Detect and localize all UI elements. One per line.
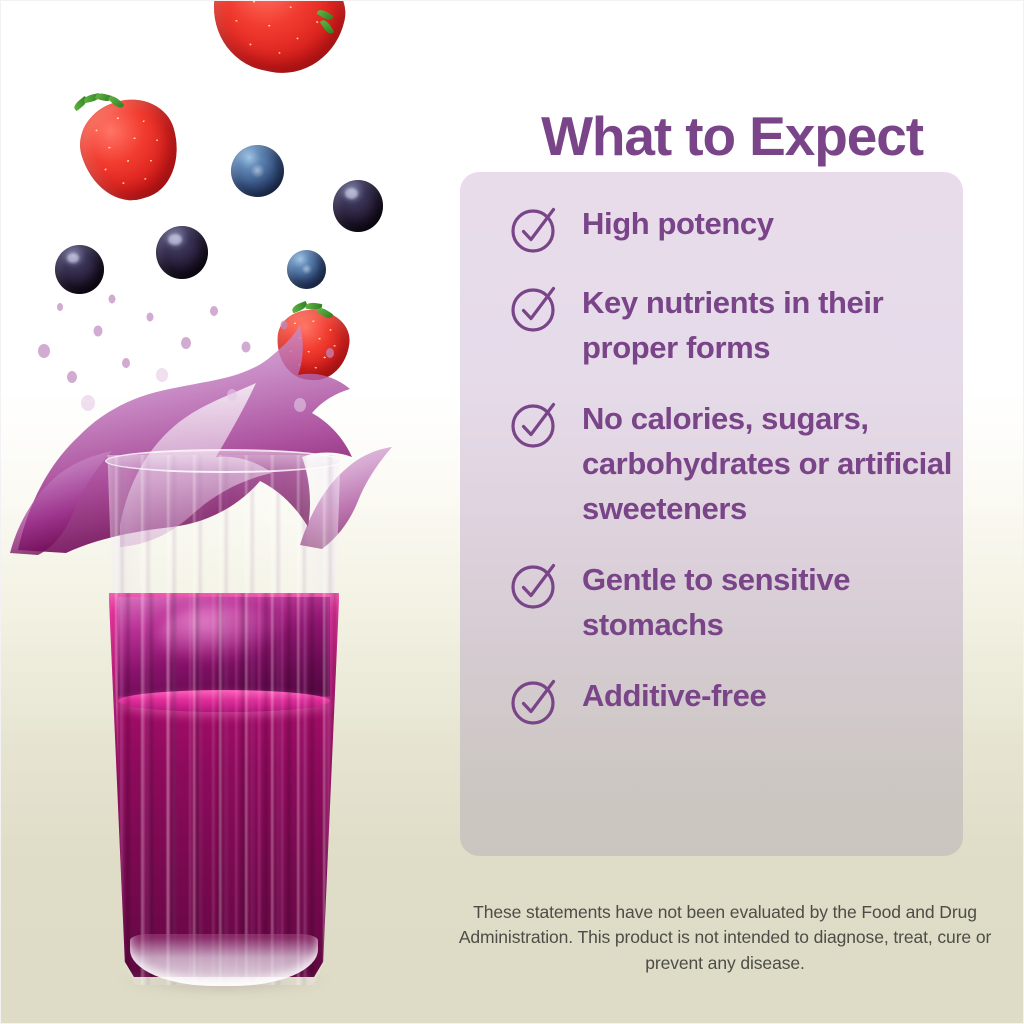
glass-rim	[105, 449, 343, 473]
drink-glass	[100, 455, 348, 985]
benefit-item-gentle-stomach: Gentle to sensitive stomachs	[508, 558, 1000, 648]
glass-flute-facets	[100, 455, 348, 985]
benefit-label: Additive-free	[582, 674, 766, 719]
benefit-label: High potency	[582, 202, 774, 247]
strawberry-top-icon	[202, 0, 354, 84]
fda-disclaimer: These statements have not been evaluated…	[448, 900, 1002, 976]
content-column: What to Expect High potency Key nutrient…	[440, 0, 1024, 1024]
check-circle-icon	[508, 284, 564, 334]
benefit-label: No calories, sugars, carbohydrates or ar…	[582, 397, 982, 532]
benefit-item-no-calories: No calories, sugars, carbohydrates or ar…	[508, 397, 1000, 532]
product-benefits-page: What to Expect High potency Key nutrient…	[0, 0, 1024, 1024]
check-circle-icon	[508, 561, 564, 611]
currant-right-icon	[333, 180, 383, 232]
page-title: What to Expect	[440, 109, 1024, 164]
check-circle-icon	[508, 205, 564, 255]
blueberry-upper-icon	[231, 145, 284, 197]
benefit-label: Gentle to sensitive stomachs	[582, 558, 982, 648]
check-circle-icon	[508, 400, 564, 450]
benefit-label: Key nutrients in their proper forms	[582, 281, 982, 371]
benefit-item-additive-free: Additive-free	[508, 674, 1000, 727]
check-circle-icon	[508, 677, 564, 727]
benefit-item-key-nutrients: Key nutrients in their proper forms	[508, 281, 1000, 371]
product-photo	[0, 0, 440, 1024]
benefit-item-high-potency: High potency	[508, 202, 1000, 255]
benefits-list: High potency Key nutrients in their prop…	[460, 172, 1000, 856]
strawberry-left-icon	[70, 89, 190, 212]
